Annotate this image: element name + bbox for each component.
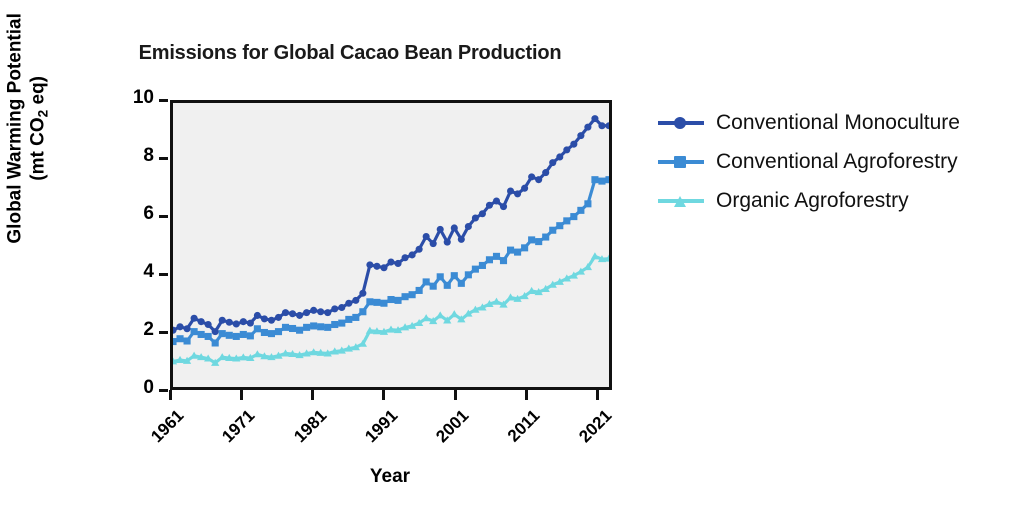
- data-point-marker: [352, 314, 359, 321]
- data-point-marker: [275, 314, 282, 321]
- data-point-marker: [556, 222, 563, 229]
- data-point-marker: [479, 210, 486, 217]
- data-point-marker: [191, 315, 198, 322]
- data-point-marker: [430, 283, 437, 290]
- y-axis-title: Global Warming Potential (mt CO2 eq): [4, 0, 53, 293]
- data-point-marker: [423, 233, 430, 240]
- y-tick-label: 0: [120, 377, 154, 399]
- data-point-marker: [436, 311, 444, 318]
- x-tick-label: 1991: [355, 406, 402, 453]
- data-point-marker: [338, 304, 345, 311]
- data-point-marker: [430, 240, 437, 247]
- data-point-marker: [233, 320, 240, 327]
- data-point-marker: [303, 309, 310, 316]
- data-point-marker: [437, 226, 444, 233]
- data-point-marker: [352, 297, 359, 304]
- data-point-marker: [521, 244, 528, 251]
- data-point-marker: [345, 316, 352, 323]
- data-point-marker: [310, 307, 317, 314]
- data-point-marker: [394, 260, 401, 267]
- data-point-marker: [254, 325, 261, 332]
- data-point-marker: [507, 188, 514, 195]
- x-tick-mark: [454, 390, 457, 400]
- data-point-marker: [338, 320, 345, 327]
- data-point-marker: [444, 239, 451, 246]
- data-point-marker: [402, 254, 409, 261]
- x-tick-mark: [525, 390, 528, 400]
- x-tick-mark: [240, 390, 243, 400]
- data-point-marker: [535, 238, 542, 245]
- y-tick-mark: [159, 215, 168, 218]
- legend: Conventional Monoculture Conventional Ag…: [658, 106, 960, 223]
- data-point-marker: [542, 169, 549, 176]
- x-tick-label: 2001: [427, 406, 474, 453]
- x-tick-mark: [169, 390, 172, 400]
- data-point-marker: [247, 332, 254, 339]
- data-point-marker: [324, 309, 331, 316]
- data-point-marker: [542, 234, 549, 241]
- data-point-marker: [373, 263, 380, 270]
- data-point-marker: [598, 122, 605, 129]
- data-point-marker: [521, 185, 528, 192]
- data-point-marker: [472, 266, 479, 273]
- data-point-marker: [409, 251, 416, 258]
- legend-label: Conventional Monoculture: [716, 111, 960, 135]
- data-point-marker: [444, 282, 451, 289]
- data-point-marker: [261, 315, 268, 322]
- data-point-marker: [528, 173, 535, 180]
- x-tick-mark: [311, 390, 314, 400]
- data-point-marker: [373, 299, 380, 306]
- y-tick-mark: [159, 157, 168, 160]
- series-line: [173, 256, 609, 363]
- x-tick-label: 2021: [569, 406, 616, 453]
- x-tick-mark: [382, 390, 385, 400]
- y-tick-label: 6: [120, 203, 154, 225]
- data-point-marker: [261, 329, 268, 336]
- data-point-marker: [605, 122, 609, 129]
- y-tick-label: 2: [120, 319, 154, 341]
- data-point-marker: [409, 291, 416, 298]
- data-point-marker: [226, 332, 233, 339]
- data-point-marker: [451, 272, 458, 279]
- data-point-marker: [324, 324, 331, 331]
- y-tick-mark: [159, 99, 168, 102]
- data-point-marker: [591, 115, 598, 122]
- y-tick-mark: [159, 389, 168, 392]
- data-point-marker: [416, 246, 423, 253]
- data-point-marker: [359, 308, 366, 315]
- data-point-marker: [275, 328, 282, 335]
- data-point-marker: [465, 271, 472, 278]
- legend-swatch-conventional-agroforestry: [658, 152, 704, 172]
- data-point-marker: [598, 178, 605, 185]
- data-point-marker: [514, 249, 521, 256]
- data-point-marker: [317, 323, 324, 330]
- data-point-marker: [514, 190, 521, 197]
- x-tick-label: 1971: [213, 406, 260, 453]
- data-point-marker: [458, 236, 465, 243]
- data-point-marker: [233, 333, 240, 340]
- data-point-marker: [380, 300, 387, 307]
- data-point-marker: [549, 227, 556, 234]
- legend-item-organic-agroforestry[interactable]: Organic Agroforestry: [658, 184, 960, 217]
- data-point-marker: [296, 312, 303, 319]
- data-point-marker: [296, 327, 303, 334]
- y-tick-label: 8: [120, 145, 154, 167]
- data-point-marker: [366, 261, 373, 268]
- circle-marker-icon: [674, 117, 686, 129]
- data-point-marker: [359, 290, 366, 297]
- data-point-marker: [563, 146, 570, 153]
- y-tick-label: 10: [120, 87, 154, 109]
- data-point-marker: [247, 320, 254, 327]
- data-point-marker: [331, 321, 338, 328]
- data-point-marker: [422, 314, 430, 321]
- x-axis-title: Year: [330, 466, 450, 488]
- data-point-marker: [173, 338, 177, 345]
- data-point-marker: [387, 259, 394, 266]
- data-point-marker: [493, 253, 500, 260]
- data-point-marker: [500, 203, 507, 210]
- data-point-marker: [535, 176, 542, 183]
- y-axis-title-line2-subscript: 2: [36, 110, 51, 118]
- data-point-marker: [219, 317, 226, 324]
- x-tick-label: 2011: [498, 406, 545, 453]
- data-point-marker: [507, 247, 514, 254]
- data-point-marker: [493, 197, 500, 204]
- data-point-marker: [437, 273, 444, 280]
- data-point-marker: [451, 224, 458, 231]
- data-point-marker: [472, 214, 479, 221]
- data-point-marker: [240, 318, 247, 325]
- data-point-marker: [184, 325, 191, 332]
- y-tick-mark: [159, 273, 168, 276]
- legend-label: Organic Agroforestry: [716, 189, 909, 213]
- data-point-marker: [458, 280, 465, 287]
- data-point-marker: [176, 335, 183, 342]
- x-tick-label: 1961: [141, 406, 188, 453]
- data-point-marker: [486, 202, 493, 209]
- data-point-marker: [205, 321, 212, 328]
- data-point-marker: [402, 293, 409, 300]
- data-point-marker: [303, 324, 310, 331]
- data-point-marker: [577, 207, 584, 214]
- data-point-marker: [366, 298, 373, 305]
- data-point-marker: [176, 323, 183, 330]
- data-point-marker: [191, 328, 198, 335]
- data-point-marker: [331, 305, 338, 312]
- series-organic-agroforestry: [173, 252, 609, 366]
- data-point-marker: [317, 308, 324, 315]
- data-point-marker: [289, 310, 296, 317]
- data-point-marker: [416, 287, 423, 294]
- legend-swatch-conventional-monoculture: [658, 113, 704, 133]
- data-point-marker: [570, 213, 577, 220]
- data-point-marker: [219, 330, 226, 337]
- data-point-marker: [240, 331, 247, 338]
- data-point-marker: [591, 252, 599, 259]
- data-point-marker: [450, 310, 458, 317]
- data-point-marker: [500, 257, 507, 264]
- legend-label: Conventional Agroforestry: [716, 150, 958, 174]
- data-point-marker: [465, 223, 472, 230]
- triangle-marker-icon: [674, 196, 686, 207]
- legend-swatch-organic-agroforestry: [658, 191, 704, 211]
- data-point-marker: [184, 337, 191, 344]
- data-point-marker: [423, 278, 430, 285]
- data-point-marker: [584, 124, 591, 131]
- y-tick-label: 4: [120, 261, 154, 283]
- y-axis-title-line1: Global Warming Potential: [5, 13, 26, 243]
- data-point-marker: [528, 236, 535, 243]
- data-point-marker: [486, 256, 493, 263]
- data-point-marker: [345, 300, 352, 307]
- data-point-marker: [282, 324, 289, 331]
- data-point-marker: [591, 176, 598, 183]
- data-point-marker: [563, 217, 570, 224]
- data-point-marker: [282, 309, 289, 316]
- data-point-marker: [212, 339, 219, 346]
- data-point-marker: [198, 318, 205, 325]
- data-point-marker: [605, 176, 609, 183]
- legend-item-conventional-monoculture[interactable]: Conventional Monoculture: [658, 106, 960, 139]
- y-axis-title-line2-pre: (mt CO: [28, 117, 49, 180]
- plot-svg: [173, 103, 609, 387]
- data-point-marker: [380, 264, 387, 271]
- y-axis-title-line2-post: eq): [28, 76, 49, 110]
- data-point-marker: [289, 325, 296, 332]
- data-point-marker: [310, 322, 317, 329]
- data-point-marker: [268, 330, 275, 337]
- data-point-marker: [212, 328, 219, 335]
- data-point-marker: [577, 132, 584, 139]
- data-point-marker: [549, 159, 556, 166]
- y-tick-mark: [159, 331, 168, 334]
- chart-title: Emissions for Global Cacao Bean Producti…: [0, 42, 700, 65]
- plot-area: [170, 100, 612, 390]
- data-point-marker: [226, 319, 233, 326]
- x-tick-label: 1981: [284, 406, 331, 453]
- data-point-marker: [394, 297, 401, 304]
- data-point-marker: [387, 296, 394, 303]
- data-point-marker: [254, 312, 261, 319]
- data-point-marker: [570, 141, 577, 148]
- x-tick-mark: [596, 390, 599, 400]
- data-point-marker: [268, 317, 275, 324]
- data-point-marker: [205, 333, 212, 340]
- legend-item-conventional-agroforestry[interactable]: Conventional Agroforestry: [658, 145, 960, 178]
- data-point-marker: [479, 262, 486, 269]
- square-marker-icon: [674, 156, 686, 168]
- data-point-marker: [556, 153, 563, 160]
- data-point-marker: [198, 331, 205, 338]
- data-point-marker: [584, 200, 591, 207]
